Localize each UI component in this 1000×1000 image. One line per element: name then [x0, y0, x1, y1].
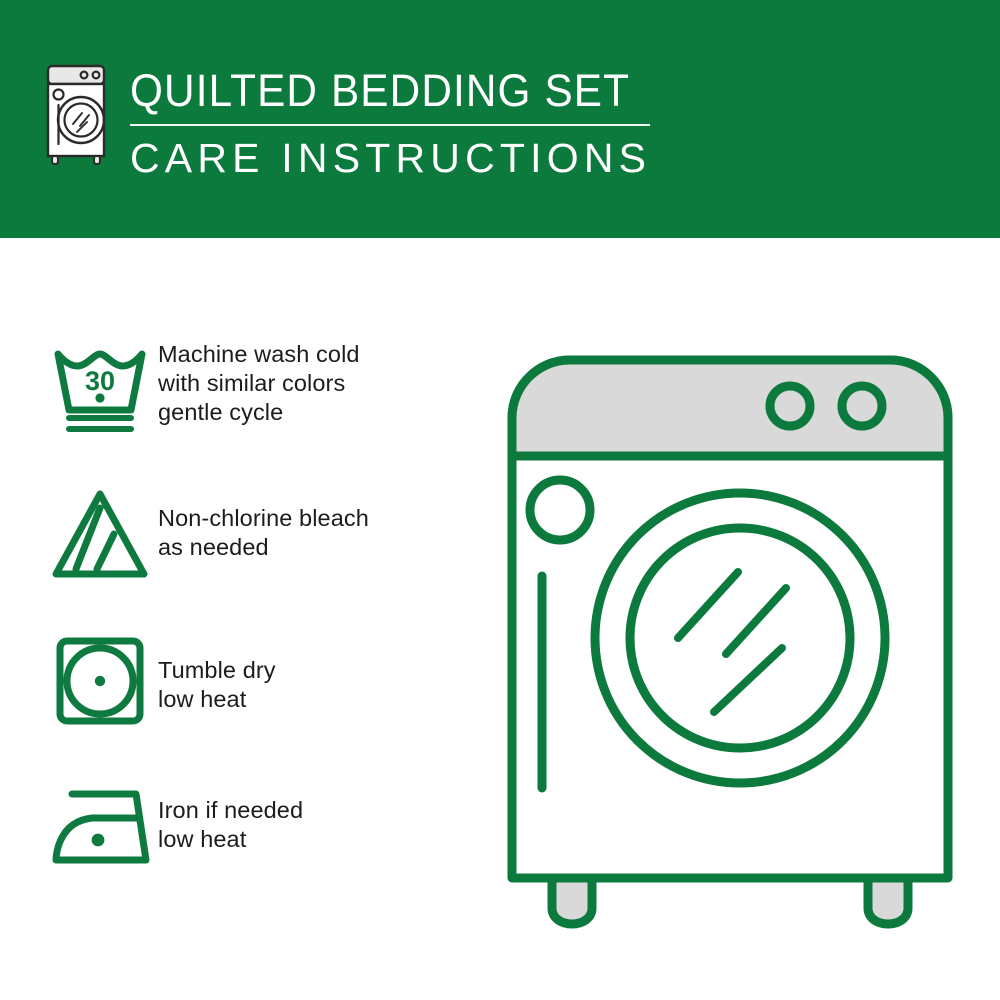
header-banner: QUILTED BEDDING SET CARE INSTRUCTIONS	[0, 0, 1000, 238]
care-text-tumble-dry: Tumble dry low heat	[158, 634, 276, 714]
care-text-line: Non-chlorine bleach	[158, 504, 369, 533]
care-item-iron: Iron if needed low heat	[48, 782, 478, 886]
care-text-line: with similar colors	[158, 369, 360, 398]
iron-icon	[48, 782, 158, 872]
care-text-line: low heat	[158, 685, 276, 714]
care-text-line: low heat	[158, 825, 303, 854]
tumble-dry-icon	[48, 634, 152, 730]
care-symbol-bleach	[48, 486, 158, 582]
care-symbol-tumble-dry	[48, 634, 158, 730]
care-text-wash: Machine wash cold with similar colors ge…	[158, 338, 360, 427]
wash-basin-icon: 30	[48, 338, 152, 434]
care-item-tumble-dry: Tumble dry low heat	[48, 634, 478, 738]
care-symbol-wash: 30	[48, 338, 158, 434]
care-item-wash: 30 Machine wash cold with similar colors…	[48, 338, 478, 442]
leg-right	[868, 878, 908, 924]
care-text-line: Iron if needed	[158, 796, 303, 825]
page-title: QUILTED BEDDING SET	[130, 66, 630, 116]
wash-temperature-label: 30	[85, 366, 115, 396]
main-content: 30 Machine wash cold with similar colors…	[0, 238, 1000, 1000]
bleach-triangle-icon	[48, 486, 152, 582]
care-text-iron: Iron if needed low heat	[158, 782, 303, 854]
header-content: QUILTED BEDDING SET CARE INSTRUCTIONS	[44, 62, 662, 181]
title-divider	[130, 124, 650, 126]
care-symbol-list: 30 Machine wash cold with similar colors…	[48, 338, 478, 886]
header-titles: QUILTED BEDDING SET CARE INSTRUCTIONS	[130, 62, 662, 181]
care-instructions-page: QUILTED BEDDING SET CARE INSTRUCTIONS 30	[0, 0, 1000, 1000]
care-symbol-iron	[48, 782, 158, 872]
washing-machine-illustration	[490, 338, 970, 938]
care-text-line: Tumble dry	[158, 656, 276, 685]
care-text-line: as needed	[158, 533, 369, 562]
care-text-bleach: Non-chlorine bleach as needed	[158, 486, 369, 562]
care-item-bleach: Non-chlorine bleach as needed	[48, 486, 478, 590]
page-subtitle: CARE INSTRUCTIONS	[130, 135, 662, 181]
leg-left	[552, 878, 592, 924]
care-text-line: gentle cycle	[158, 398, 360, 427]
washing-machine-icon	[44, 62, 110, 168]
care-text-line: Machine wash cold	[158, 340, 360, 369]
